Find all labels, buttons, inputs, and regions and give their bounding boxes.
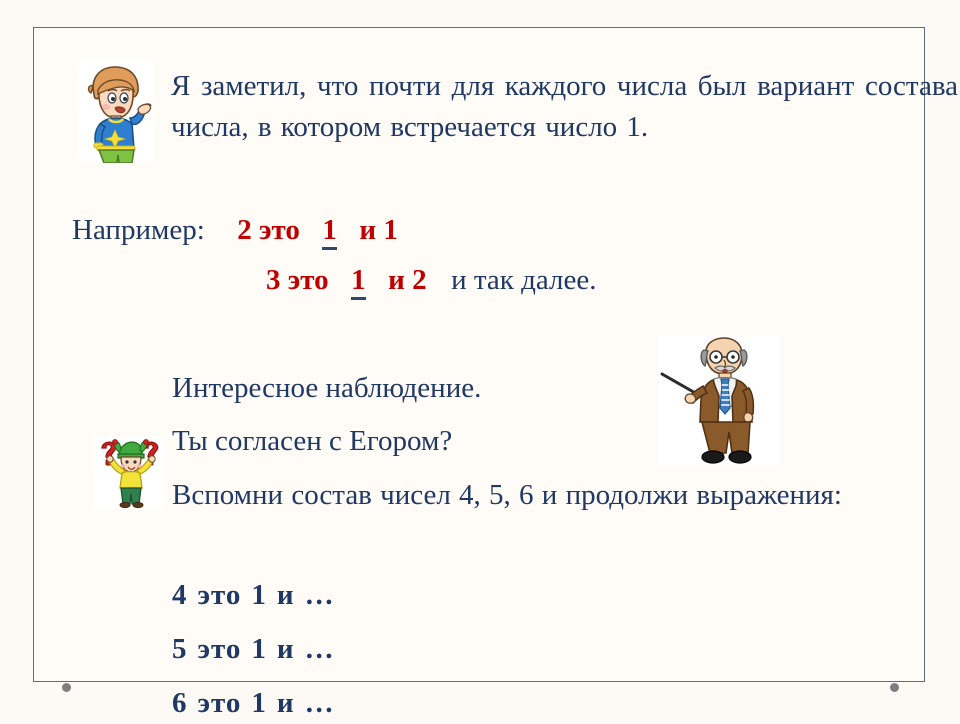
example-1-rest: и 1 [359, 214, 397, 246]
cartoon-boy-pointing-image [78, 60, 154, 163]
decorative-dot-right [890, 683, 899, 692]
expression-5-one: 1 [251, 633, 267, 665]
expression-5-number: 5 [172, 633, 188, 665]
expression-6-word: это [198, 687, 242, 719]
cartoon-teacher-image [658, 336, 779, 467]
example-2-middle: и 2 [388, 264, 426, 296]
expression-4-conj: и [277, 579, 295, 611]
example-1-first: 2 это [237, 214, 300, 246]
expression-5-ellipsis: … [305, 633, 335, 665]
expression-4-number: 4 [172, 579, 188, 611]
expression-5-conj: и [277, 633, 295, 665]
expression-line-5: 5это1и… [172, 629, 335, 670]
recall-instruction-paragraph: Вспомни состав чисел 4, 5, 6 и продолжи … [72, 475, 958, 516]
example-2-underlined-one: 1 [351, 264, 366, 300]
expression-4-ellipsis: … [305, 579, 335, 611]
expression-4-one: 1 [251, 579, 267, 611]
boy-pointing-icon [78, 60, 154, 163]
example-1-underlined-one: 1 [322, 214, 337, 250]
expression-4-word: это [198, 579, 242, 611]
slide-frame: Я заметил, что почти для каждого числа б… [33, 27, 925, 682]
example-line-1: Например: 2 это 1 и 1 [72, 210, 952, 251]
decorative-dot-left [62, 683, 71, 692]
expression-6-conj: и [277, 687, 295, 719]
observation-paragraph: Я заметил, что почти для каждого числа б… [171, 66, 958, 148]
expression-6-one: 1 [251, 687, 267, 719]
agree-question-line: Ты согласен с Егором? [172, 421, 452, 462]
interesting-note-line: Интересное наблюдение. [172, 368, 481, 409]
example-line-2: 3 это 1 и 2 и так далее. [266, 260, 956, 301]
example-2-tail: и так далее. [451, 264, 596, 296]
expression-line-6: 6это1и… [172, 683, 335, 724]
example-2-first: 3 это [266, 264, 329, 296]
expression-6-ellipsis: … [305, 687, 335, 719]
teacher-with-pointer-icon [658, 336, 779, 467]
example-label: Например: [72, 214, 205, 246]
expression-6-number: 6 [172, 687, 188, 719]
expression-5-word: это [198, 633, 242, 665]
expression-line-4: 4это1и… [172, 575, 335, 616]
